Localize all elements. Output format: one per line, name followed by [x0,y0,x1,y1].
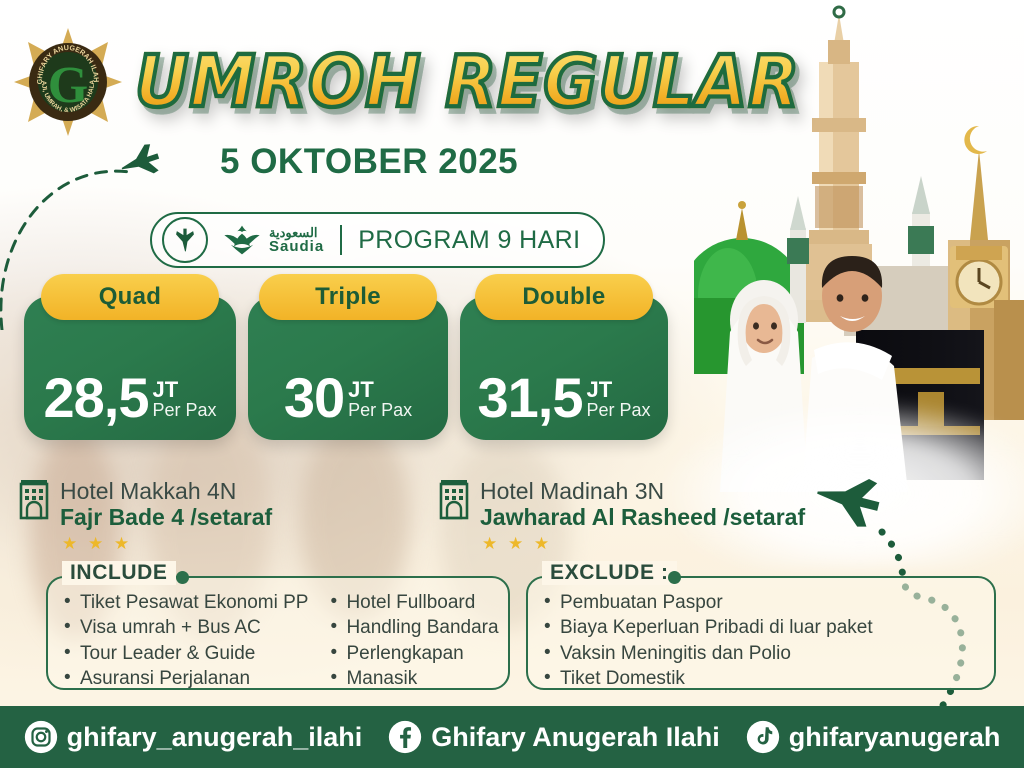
company-logo: GHIFARY ANUGERAH ILAHI HAJI, UMRAH, & WI… [14,28,122,136]
list-item: Asuransi Perjalanan [62,666,308,691]
program-banner: السعودية Saudia PROGRAM 9 HARI [150,212,605,268]
facebook-icon[interactable] [388,720,422,754]
logo-monogram: G [48,57,88,114]
social-facebook[interactable]: Ghifary Anugerah Ilahi [388,720,720,754]
list-item: Tiket Pesawat Ekonomi PP [62,590,308,615]
list-item: Tiket Domestik [542,666,873,691]
price-amount: 30 [284,371,344,424]
hotel-nights: Hotel Makkah 4N [60,478,272,504]
exclude-box: EXCLUDE : Pembuatan Paspor Biaya Keperlu… [526,576,996,690]
price-card-double[interactable]: Double 31,5 JT Per Pax [460,296,668,440]
exclude-column-1: Pembuatan Paspor Biaya Keperluan Pribadi… [542,590,873,691]
list-item: Manasik [328,666,498,691]
price-per-pax: Per Pax [348,401,412,420]
poster-canvas: GHIFARY ANUGERAH ILAHI HAJI, UMRAH, & WI… [0,0,1024,768]
social-tiktok[interactable]: ghifaryanugerah [746,720,1001,754]
hotel-building-icon [438,478,470,520]
hotel-name: Jawharad Al Rasheed /setaraf [480,504,805,532]
list-item: Hotel Fullboard [328,590,498,615]
list-item: Perlengkapan [328,641,498,666]
include-title: INCLUDE [62,561,176,585]
price-row: 28,5 JT Per Pax [24,371,236,424]
room-type-badge: Quad [41,274,219,320]
include-box: INCLUDE Tiket Pesawat Ekonomi PP Visa um… [46,576,510,690]
list-item: Handling Bandara [328,615,498,640]
hotel-star-rating: ★ ★ ★ [62,534,272,554]
price-row: 31,5 JT Per Pax [460,371,668,424]
hotel-madinah: Hotel Madinah 3N Jawharad Al Rasheed /se… [438,478,805,554]
saudia-logo: السعودية Saudia [222,224,324,256]
list-item: Tour Leader & Guide [62,641,308,666]
hotel-makkah: Hotel Makkah 4N Fajr Bade 4 /setaraf ★ ★… [18,478,408,554]
price-card-triple[interactable]: Triple 30 JT Per Pax [248,296,448,440]
hotel-list: Hotel Makkah 4N Fajr Bade 4 /setaraf ★ ★… [18,478,818,554]
social-instagram[interactable]: ghifary_anugerah_ilahi [24,720,363,754]
hotel-building-icon [18,478,50,520]
price-unit: JT [152,378,216,401]
list-item: Pembuatan Paspor [542,590,873,615]
pill-divider [340,225,342,255]
exclude-columns: Pembuatan Paspor Biaya Keperluan Pribadi… [528,578,994,691]
price-card-list: Quad 28,5 JT Per Pax Triple 30 JT Per Pa… [24,296,668,440]
saudia-latin-label: Saudia [269,239,324,254]
price-amount: 31,5 [477,371,582,424]
instagram-handle: ghifary_anugerah_ilahi [67,722,363,753]
include-column-2: Hotel Fullboard Handling Bandara Perleng… [328,590,498,691]
price-unit: JT [586,378,650,401]
hotel-nights: Hotel Madinah 3N [480,478,805,504]
program-duration-label: PROGRAM 9 HARI [358,226,580,255]
instagram-icon[interactable] [24,720,58,754]
airplane-badge-icon [162,217,208,263]
airplane-right-icon [812,470,884,528]
hotel-name: Fajr Bade 4 /setaraf [60,504,272,532]
departure-date: 5 OKTOBER 2025 [220,142,518,182]
list-item: Biaya Keperluan Pribadi di luar paket [542,615,873,640]
include-connector-dot [176,571,189,584]
list-item: Vaksin Meningitis dan Polio [542,641,873,666]
room-type-badge: Double [475,274,653,320]
tiktok-handle: ghifaryanugerah [789,722,1001,753]
exclude-connector-dot [668,571,681,584]
exclude-title: EXCLUDE : [542,561,677,585]
tiktok-icon[interactable] [746,720,780,754]
room-type-badge: Triple [259,274,437,320]
facebook-handle: Ghifary Anugerah Ilahi [431,722,720,753]
hotel-star-rating: ★ ★ ★ [482,534,805,554]
price-per-pax: Per Pax [586,401,650,420]
include-columns: Tiket Pesawat Ekonomi PP Visa umrah + Bu… [48,578,508,691]
include-column-1: Tiket Pesawat Ekonomi PP Visa umrah + Bu… [62,590,308,691]
saudia-emblem-icon [222,224,262,256]
list-item: Visa umrah + Bus AC [62,615,308,640]
social-footer: ghifary_anugerah_ilahi Ghifary Anugerah … [0,706,1024,768]
price-unit: JT [348,378,412,401]
price-row: 30 JT Per Pax [248,371,448,424]
price-per-pax: Per Pax [152,401,216,420]
price-card-quad[interactable]: Quad 28,5 JT Per Pax [24,296,236,440]
page-title: UMROH REGULAR [135,40,800,123]
price-amount: 28,5 [43,371,148,424]
airplane-left-icon [118,144,162,180]
